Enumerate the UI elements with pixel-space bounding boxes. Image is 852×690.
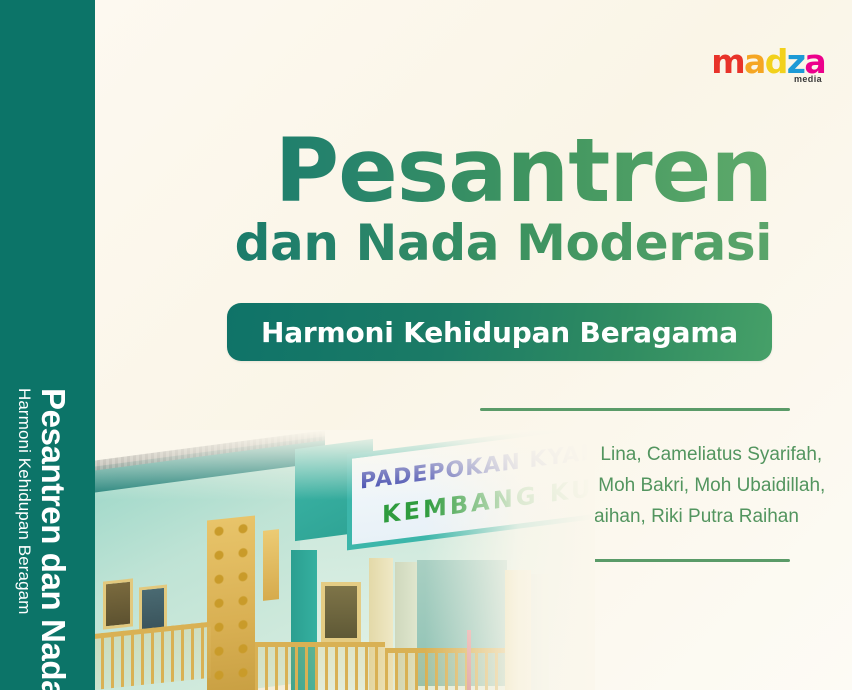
spine-subtitle-text: Harmoni Kehidupan Beragam [14, 388, 34, 614]
page-subtitle: dan Nada Moderasi [152, 218, 772, 269]
photo-content: PADEPOKAN KYAI MUDRIKAH KEMBANG KUNING [95, 430, 595, 690]
logo-letter-m: m [711, 45, 744, 78]
spine-title-text: Pesantren dan Nada M [34, 388, 72, 690]
page-title: Pesantren [152, 128, 772, 214]
photo-balcony-railing [255, 642, 385, 690]
photo-right-fade [425, 430, 595, 690]
photo-railing-cap [255, 642, 385, 647]
spine-author-area: Heni Listiana, dkk [0, 40, 228, 74]
publisher-logo: madza media [711, 45, 825, 84]
building-photograph: PADEPOKAN KYAI MUDRIKAH KEMBANG KUNING [95, 430, 595, 690]
photo-window-center [321, 582, 361, 642]
logo-letter-d: d [765, 45, 787, 78]
book-cover: Heni Listiana, dkk Pesantren dan Nada M … [0, 0, 852, 690]
photo-gold-post [263, 529, 279, 601]
subtitle-banner-label: Harmoni Kehidupan Beragama [261, 316, 738, 349]
front-cover-panel: madza media Pesantren dan Nada Moderasi … [95, 0, 852, 690]
author-divider-top [480, 408, 790, 411]
photo-pierced-gold-pillar [207, 515, 255, 690]
spine-title-area: Pesantren dan Nada M Harmoni Kehidupan B… [0, 388, 95, 690]
title-block: Pesantren dan Nada Moderasi [152, 128, 772, 269]
photo-window-left [103, 578, 133, 629]
subtitle-banner: Harmoni Kehidupan Beragama [227, 303, 772, 361]
logo-letter-a1: a [744, 45, 765, 78]
book-spine: Heni Listiana, dkk Pesantren dan Nada M … [0, 0, 95, 690]
